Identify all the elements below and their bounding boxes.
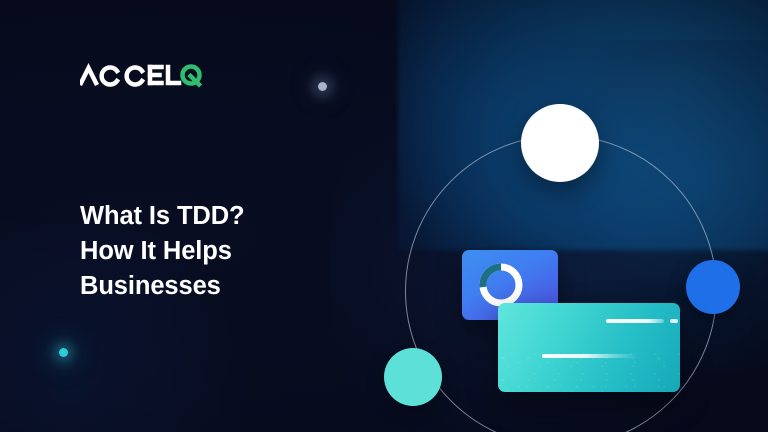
report-card-dash	[670, 319, 678, 323]
report-card-line-top	[606, 319, 664, 323]
hero-banner: ACCEL Q What Is TDD? How It Helps Busine…	[0, 0, 768, 432]
page-title-line-3: Businesses	[80, 269, 350, 304]
hero-illustration	[380, 110, 768, 432]
accelq-logo-mark	[80, 60, 202, 92]
report-card[interactable]	[498, 303, 680, 392]
report-card-line-middle	[542, 354, 638, 358]
white-circle	[521, 104, 599, 182]
white-sparkle-dot	[318, 82, 327, 91]
teal-sparkle-dot	[59, 348, 68, 357]
page-title-line-2: How It Helps	[80, 234, 350, 269]
page-title: What Is TDD? How It Helps Businesses	[80, 199, 350, 304]
accelq-logo[interactable]: ACCEL Q	[80, 60, 202, 92]
blue-circle	[686, 260, 740, 314]
teal-circle	[384, 348, 442, 406]
page-title-line-1: What Is TDD?	[80, 199, 350, 234]
